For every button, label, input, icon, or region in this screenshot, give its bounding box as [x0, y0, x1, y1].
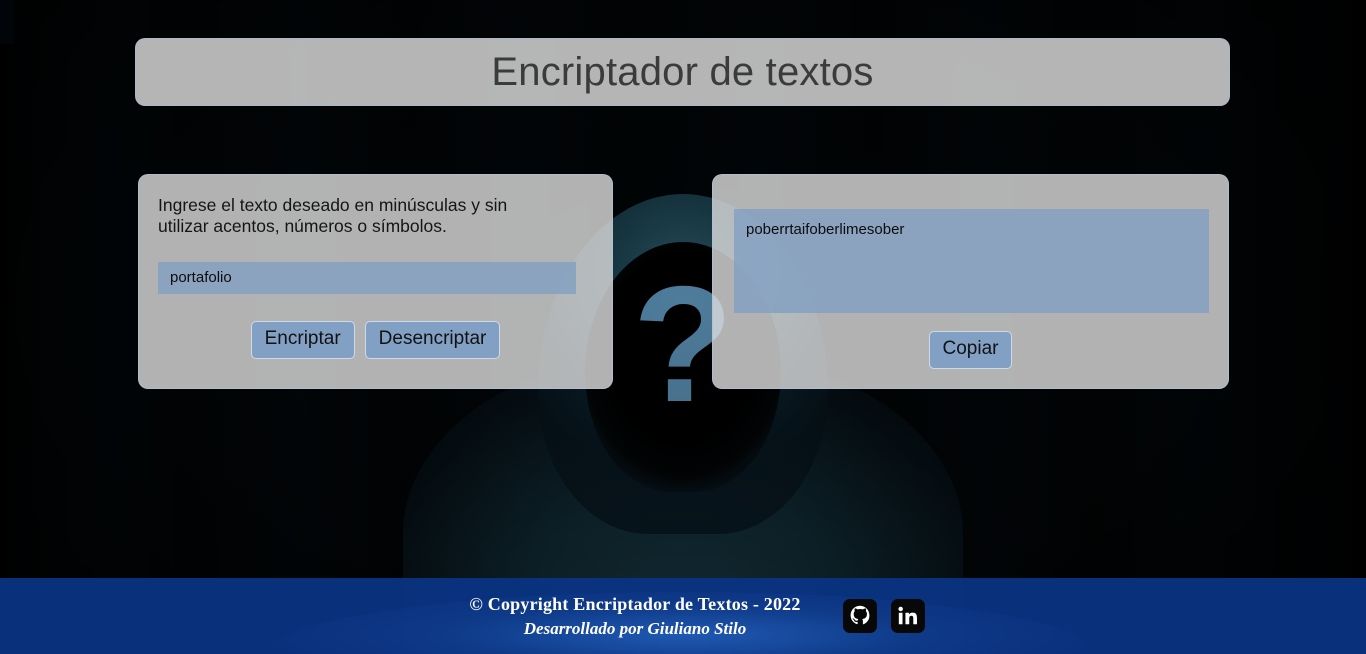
- background-left-gutter: [0, 0, 14, 44]
- page-title: Encriptador de textos: [491, 50, 873, 95]
- output-button-row: Copiar: [734, 331, 1207, 369]
- input-button-row: Encriptar Desencriptar: [158, 321, 593, 359]
- app-header: Encriptador de textos: [135, 38, 1230, 106]
- footer-text-block: © Copyright Encriptador de Textos - 2022…: [469, 591, 800, 642]
- footer-copyright: © Copyright Encriptador de Textos - 2022: [469, 591, 800, 617]
- linkedin-icon[interactable]: [891, 599, 925, 633]
- app-footer: © Copyright Encriptador de Textos - 2022…: [0, 578, 1366, 654]
- output-panel: Copiar: [712, 174, 1229, 389]
- decrypt-button[interactable]: Desencriptar: [365, 321, 501, 359]
- result-textarea[interactable]: [734, 209, 1209, 313]
- text-input[interactable]: [158, 262, 576, 294]
- footer-author: Desarrollado por Giuliano Stilo: [469, 617, 800, 642]
- footer-social-links: [843, 599, 925, 633]
- footer-inner: © Copyright Encriptador de Textos - 2022…: [0, 578, 1366, 654]
- input-panel: Ingrese el texto deseado en minúsculas y…: [138, 174, 613, 389]
- encrypt-button[interactable]: Encriptar: [251, 321, 355, 359]
- copy-button[interactable]: Copiar: [929, 331, 1013, 369]
- input-instructions: Ingrese el texto deseado en minúsculas y…: [158, 195, 550, 238]
- github-icon[interactable]: [843, 599, 877, 633]
